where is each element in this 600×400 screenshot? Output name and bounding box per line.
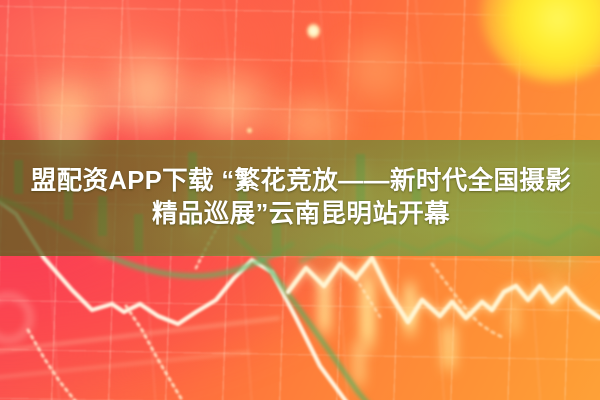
headline-overlay-band bbox=[0, 140, 600, 256]
circular-watermark bbox=[0, 296, 30, 340]
white-trend-line-lower-glow bbox=[288, 258, 600, 322]
promo-banner: 盟配资APP下载 “繁花竞放——新时代全国摄影 精品巡展”云南昆明站开幕 bbox=[0, 0, 600, 400]
price-channel-line bbox=[0, 318, 280, 378]
band-inner-glow bbox=[0, 140, 600, 256]
highlight-dot bbox=[246, 127, 253, 134]
highlight-dot bbox=[307, 23, 320, 39]
